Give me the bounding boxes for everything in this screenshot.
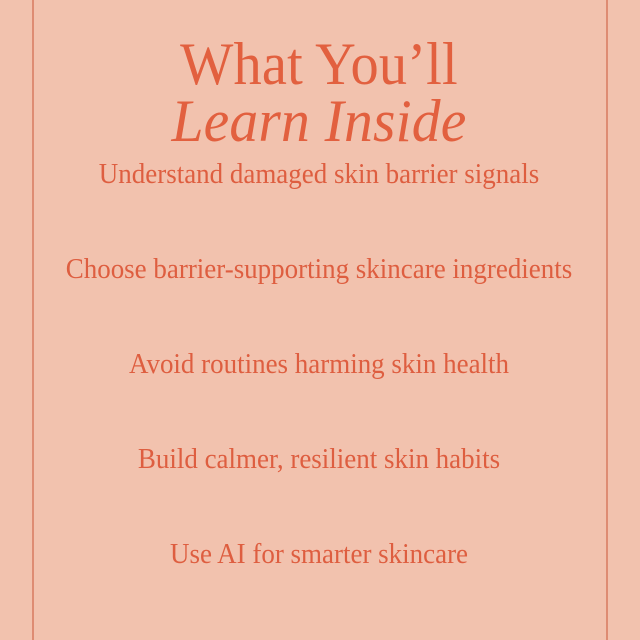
list-item: Understand damaged skin barrier signals [52, 158, 586, 253]
poster-content: What You’ll Learn Inside Understand dama… [32, 0, 606, 640]
list-item: Avoid routines harming skin health [52, 348, 586, 443]
page-title: What You’ll Learn Inside [32, 35, 606, 151]
list-item: Use AI for smarter skincare [52, 538, 586, 633]
list-item: Build calmer, resilient skin habits [52, 443, 586, 538]
right-vertical-rule [606, 0, 608, 640]
title-line-one: What You’ll [49, 35, 589, 94]
title-line-two: Learn Inside [43, 92, 594, 151]
poster-canvas: What You’ll Learn Inside Understand dama… [0, 0, 640, 640]
learning-points-list: Understand damaged skin barrier signals … [32, 158, 606, 633]
list-item: Choose barrier-supporting skincare ingre… [52, 253, 586, 348]
